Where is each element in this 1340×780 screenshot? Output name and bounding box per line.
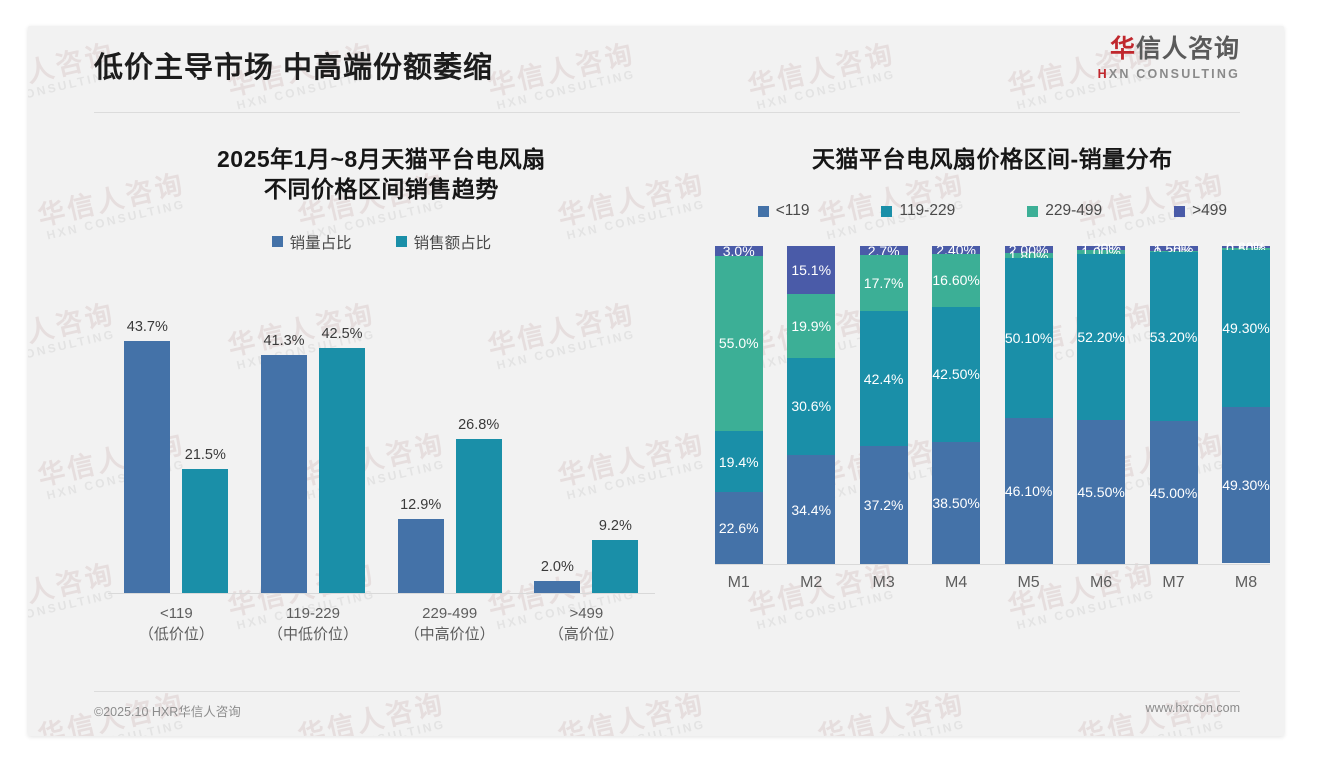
stack-value-label: 16.60%	[932, 272, 979, 288]
bar-group->499: 2.0%9.2%	[527, 540, 645, 593]
x-tick-M4: M4	[932, 574, 980, 592]
stack-segment-119-229: 49.30%	[1222, 250, 1270, 407]
stack-value-label: 34.4%	[791, 502, 831, 518]
stack-value-label: 50.10%	[1005, 330, 1052, 346]
stack-value-label: 53.20%	[1150, 329, 1197, 345]
legend-item-销售额占比[interactable]: 销售额占比	[396, 231, 492, 253]
bar-value-label: 12.9%	[400, 497, 441, 513]
stack-value-label: 52.20%	[1077, 329, 1124, 345]
footer-copyright: ©2025.10 HXR华信人咨询	[94, 701, 241, 720]
chart-title-left-line1: 2025年1月~8月天猫平台电风扇	[80, 144, 683, 174]
logo-english: HXN CONSULTING	[1098, 67, 1240, 81]
stack-value-label: 22.6%	[719, 520, 759, 536]
logo-chinese: 华信人咨询	[1098, 36, 1240, 64]
legend-label: <119	[776, 202, 810, 220]
stack-value-label: 42.50%	[932, 366, 979, 382]
stack-value-label: 30.6%	[791, 398, 831, 414]
bar-rect	[124, 341, 170, 593]
legend-swatch-icon	[1174, 206, 1185, 217]
stack-value-label: 49.30%	[1222, 477, 1269, 493]
stack-value-label: 55.0%	[719, 335, 759, 351]
stacked-bar-chart: 3.0%55.0%19.4%22.6%15.1%19.9%30.6%34.4%2…	[701, 242, 1284, 594]
bar-group-<119: 43.7%21.5%	[117, 341, 235, 593]
chart-panel-price-band-trend: 2025年1月~8月天猫平台电风扇 不同价格区间销售趋势 销量占比销售额占比 4…	[80, 118, 683, 698]
x-tick-229-499: 229-499（中高价位）	[391, 603, 509, 646]
stack-segment-<119: 34.4%	[787, 455, 835, 564]
legend-label: 销售额占比	[414, 231, 492, 253]
stack-value-label: 15.1%	[791, 262, 831, 278]
stack-value-label: 17.7%	[864, 275, 904, 291]
grouped-bar-chart: 43.7%21.5%41.3%42.5%12.9%26.8%2.0%9.2% <…	[80, 271, 683, 623]
bar-value-label: 21.5%	[185, 447, 226, 463]
stack-segment-229-499: 55.0%	[715, 256, 763, 431]
bar-rect	[182, 469, 228, 593]
bar-value-label: 26.8%	[458, 417, 499, 433]
legend-swatch-icon	[758, 206, 769, 217]
x-tick-sub: （高价位）	[527, 624, 645, 645]
stack-segment-<119: 46.10%	[1005, 418, 1053, 565]
x-tick-<119: <119（低价位）	[117, 603, 235, 646]
stack-segment-229-499: 17.7%	[860, 255, 908, 311]
stack-segment-229-499: 16.60%	[932, 254, 980, 307]
stack-value-label: 45.00%	[1150, 485, 1197, 501]
bar-rect	[534, 581, 580, 593]
legend-swatch-icon	[881, 206, 892, 217]
stack-segment-<119: 45.50%	[1077, 420, 1125, 565]
stack-segment-119-229: 53.20%	[1150, 252, 1198, 421]
legend-item-销量占比[interactable]: 销量占比	[272, 231, 352, 253]
stack-segment->499: 2.40%	[932, 246, 980, 254]
x-tick-M3: M3	[860, 574, 908, 592]
stack-segment-119-229: 19.4%	[715, 431, 763, 493]
stacked-bar-M3[interactable]: 2.7%17.7%42.4%37.2%	[860, 246, 908, 564]
chart-legend-left: 销量占比销售额占比	[80, 231, 683, 253]
bar-group-229-499: 12.9%26.8%	[391, 439, 509, 593]
footer-website: www.hxrcon.com	[1146, 701, 1240, 720]
x-tick-main: <119	[160, 605, 193, 622]
legend-label: 119-229	[899, 202, 955, 220]
stack-segment-<119: 49.30%	[1222, 407, 1270, 564]
stacked-bar-M4[interactable]: 2.40%16.60%42.50%38.50%	[932, 246, 980, 564]
stack-value-label: 46.10%	[1005, 483, 1052, 499]
x-tick-sub: （低价位）	[117, 624, 235, 645]
bar-value-label: 2.0%	[541, 559, 574, 575]
stack-segment->499: 3.0%	[715, 246, 763, 256]
stacked-bar-M1[interactable]: 3.0%55.0%19.4%22.6%	[715, 246, 763, 564]
header-divider	[94, 112, 1240, 113]
logo-chinese-first-char: 华	[1110, 35, 1136, 63]
stack-segment-229-499: 19.9%	[787, 294, 835, 357]
legend-label: 销量占比	[290, 231, 352, 253]
chart-title-left: 2025年1月~8月天猫平台电风扇 不同价格区间销售趋势	[80, 118, 683, 205]
x-tick-119-229: 119-229（中低价位）	[254, 603, 372, 646]
legend-item-119-229[interactable]: 119-229	[881, 202, 955, 220]
bar-销量占比-119-229[interactable]: 41.3%	[261, 355, 307, 593]
slide-footer: ©2025.10 HXR华信人咨询 www.hxrcon.com	[94, 701, 1240, 720]
x-tick-sub: （中高价位）	[391, 624, 509, 645]
legend-item->499[interactable]: >499	[1174, 202, 1227, 220]
company-logo: 华信人咨询 HXN CONSULTING	[1098, 36, 1240, 81]
legend-label: 229-499	[1045, 202, 1102, 220]
footer-divider	[94, 691, 1240, 692]
stack-segment-<119: 22.6%	[715, 492, 763, 564]
x-tick-M8: M8	[1222, 574, 1270, 592]
bar-销量占比->499[interactable]: 2.0%	[534, 581, 580, 593]
legend-item-<119[interactable]: <119	[758, 202, 810, 220]
x-tick-M1: M1	[715, 574, 763, 592]
legend-swatch-icon	[396, 236, 407, 247]
bar-销量占比-<119[interactable]: 43.7%	[124, 341, 170, 593]
logo-english-first-char: H	[1098, 67, 1109, 81]
bar-销售额占比-119-229[interactable]: 42.5%	[319, 348, 365, 593]
bar-value-label: 9.2%	[599, 518, 632, 534]
stack-segment-119-229: 52.20%	[1077, 254, 1125, 420]
slide-header: 低价主导市场 中高端份额萎缩 华信人咨询 HXN CONSULTING	[28, 26, 1284, 104]
grouped-bar-plot-area: 43.7%21.5%41.3%42.5%12.9%26.8%2.0%9.2%	[108, 271, 655, 594]
bar-rect	[456, 439, 502, 593]
bar-rect	[261, 355, 307, 593]
stack-value-label: 45.50%	[1077, 484, 1124, 500]
stacked-bar-M6[interactable]: 1.30%1.00%52.20%45.50%	[1077, 246, 1125, 564]
stack-value-label: 19.4%	[719, 454, 759, 470]
x-tick-main: 229-499	[422, 605, 477, 622]
page-title: 低价主导市场 中高端份额萎缩	[94, 44, 493, 86]
slide-card: 华信人咨询HXN CONSULTING华信人咨询HXN CONSULTING华信…	[28, 26, 1284, 736]
stack-value-label: 37.2%	[864, 497, 904, 513]
legend-swatch-icon	[272, 236, 283, 247]
stack-segment-119-229: 30.6%	[787, 358, 835, 455]
stack-segment-<119: 38.50%	[932, 442, 980, 564]
bar-销量占比-229-499[interactable]: 12.9%	[398, 519, 444, 593]
bar-rect	[592, 540, 638, 593]
x-tick-M6: M6	[1077, 574, 1125, 592]
stacked-bar-x-axis: M1M2M3M4M5M6M7M8	[715, 574, 1270, 592]
stack-segment-<119: 45.00%	[1150, 421, 1198, 564]
stack-segment-119-229: 50.10%	[1005, 258, 1053, 417]
grouped-bar-x-axis: <119（低价位）119-229（中低价位）229-499（中高价位）>499（…	[108, 603, 655, 646]
bar-销售额占比-<119[interactable]: 21.5%	[182, 469, 228, 593]
stack-value-label: 49.30%	[1222, 320, 1269, 336]
stacked-bar-M5[interactable]: 2.00%1.80%50.10%46.10%	[1005, 246, 1053, 564]
bar-value-label: 43.7%	[127, 319, 168, 335]
stack-value-label: 19.9%	[791, 318, 831, 334]
logo-chinese-rest: 信人咨询	[1136, 35, 1240, 63]
bar-销售额占比->499[interactable]: 9.2%	[592, 540, 638, 593]
bar-rect	[398, 519, 444, 593]
stack-segment-<119: 37.2%	[860, 446, 908, 564]
x-tick-main: >499	[569, 605, 603, 622]
x-tick-sub: （中低价位）	[254, 624, 372, 645]
bar-value-label: 42.5%	[321, 326, 362, 342]
legend-swatch-icon	[1027, 206, 1038, 217]
stack-value-label: 38.50%	[932, 495, 979, 511]
bar-销售额占比-229-499[interactable]: 26.8%	[456, 439, 502, 593]
bar-group-119-229: 41.3%42.5%	[254, 348, 372, 593]
stack-segment-119-229: 42.4%	[860, 311, 908, 446]
x-tick-M5: M5	[1005, 574, 1053, 592]
logo-english-rest: XN CONSULTING	[1109, 67, 1240, 81]
stacked-bar-M2[interactable]: 15.1%19.9%30.6%34.4%	[787, 246, 835, 564]
stack-segment->499: 15.1%	[787, 246, 835, 294]
chart-title-right: 天猫平台电风扇价格区间-销量分布	[701, 118, 1284, 174]
stack-segment-119-229: 42.50%	[932, 307, 980, 442]
chart-title-left-line2: 不同价格区间销售趋势	[80, 174, 683, 204]
stack-value-label: 42.4%	[864, 371, 904, 387]
stacked-bar-M8[interactable]: 0.80%0.50%49.30%49.30%	[1222, 246, 1270, 564]
chart-panel-volume-distribution: 天猫平台电风扇价格区间-销量分布 <119119-229229-499>499 …	[701, 118, 1284, 698]
stacked-bar-plot-area: 3.0%55.0%19.4%22.6%15.1%19.9%30.6%34.4%2…	[715, 242, 1270, 565]
legend-item-229-499[interactable]: 229-499	[1027, 202, 1102, 220]
bar-rect	[319, 348, 365, 593]
x-tick-M7: M7	[1150, 574, 1198, 592]
legend-label: >499	[1192, 202, 1227, 220]
x-tick-main: 119-229	[286, 605, 340, 622]
x-tick->499: >499（高价位）	[527, 603, 645, 646]
stack-segment->499: 2.7%	[860, 246, 908, 255]
bar-value-label: 41.3%	[263, 333, 304, 349]
chart-legend-right: <119119-229229-499>499	[701, 202, 1284, 220]
x-tick-M2: M2	[787, 574, 835, 592]
stacked-bar-M7[interactable]: 1.50%0.30%53.20%45.00%	[1150, 246, 1198, 564]
